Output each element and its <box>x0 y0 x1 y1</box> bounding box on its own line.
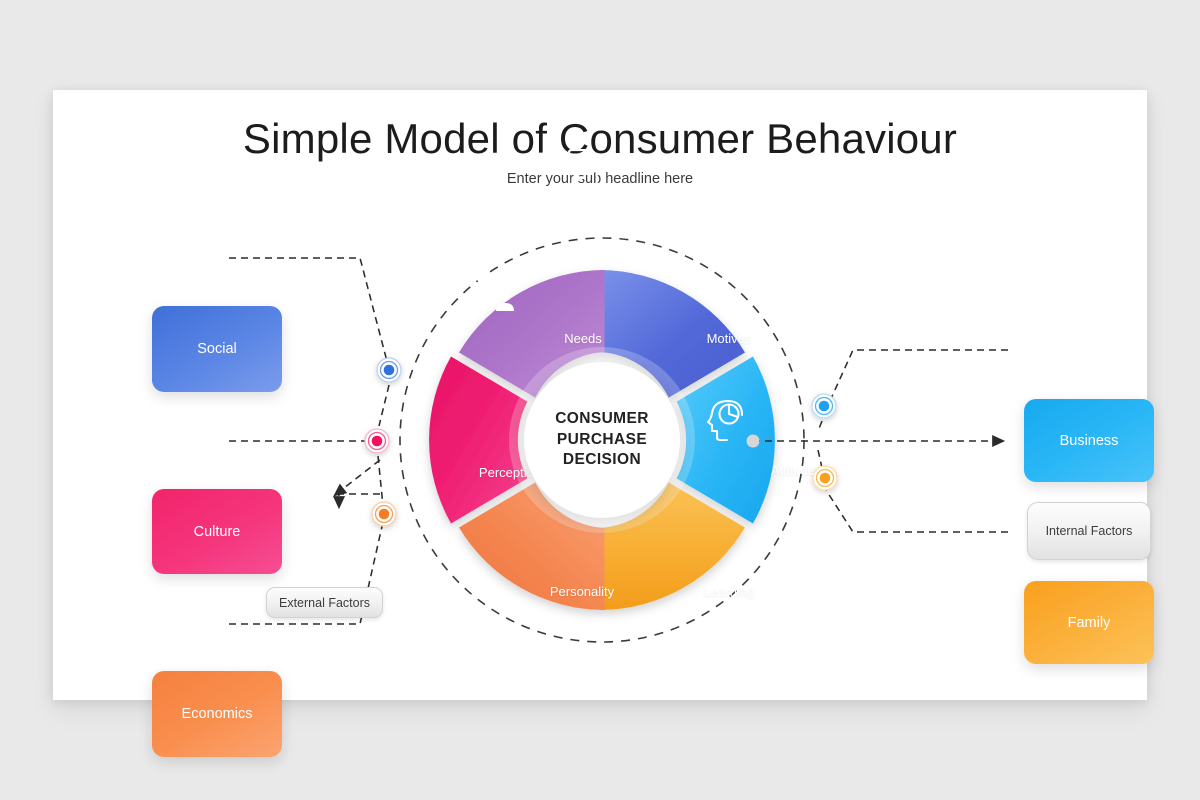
wheel-rim-dot <box>747 435 760 448</box>
hub-line-1: CONSUMER <box>555 410 649 429</box>
wheel-label-attitude: Attitude <box>771 463 815 478</box>
node-business-right[interactable] <box>812 394 836 418</box>
node-family-right[interactable] <box>813 466 837 490</box>
connector-business <box>825 350 1008 412</box>
node-economics-left[interactable] <box>372 502 396 526</box>
card-label-social: Social <box>197 341 237 357</box>
hub-line-3: DECISION <box>563 451 641 470</box>
node-culture-left[interactable] <box>365 429 389 453</box>
card-label-economics: Economics <box>182 706 253 722</box>
card-label-family: Family <box>1068 615 1111 631</box>
connector-right-spine <box>818 421 822 431</box>
document-pen-icon <box>569 150 603 185</box>
pill-label-internal: Internal Factors <box>1046 524 1133 538</box>
card-culture[interactable]: Culture <box>152 489 282 574</box>
card-economics[interactable]: Economics <box>152 671 282 757</box>
node-social-left[interactable] <box>377 358 401 382</box>
card-family[interactable]: Family <box>1024 581 1154 664</box>
connector-external-factors <box>339 494 380 507</box>
pill-internal-factors[interactable]: Internal Factors <box>1027 502 1151 560</box>
wheel-hub: CONSUMER PURCHASE DECISION <box>524 362 680 518</box>
wheel-label-needs: Needs <box>564 331 602 346</box>
card-social[interactable]: Social <box>152 306 282 392</box>
connector-family <box>826 490 1008 532</box>
pill-external-factors[interactable]: External Factors <box>266 587 383 618</box>
slide-canvas: Simple Model of Consumer Behaviour Enter… <box>53 90 1147 700</box>
card-business[interactable]: Business <box>1024 399 1154 482</box>
screenshot-root: Simple Model of Consumer Behaviour Enter… <box>0 0 1200 800</box>
hub-line-2: PURCHASE <box>557 431 647 450</box>
pill-label-external: External Factors <box>279 596 370 610</box>
connector-left-spine-2 <box>378 456 383 506</box>
two-people-exchange-icon <box>473 273 514 311</box>
card-label-culture: Culture <box>194 524 241 540</box>
org-chart-icon <box>710 153 747 186</box>
wheel-label-personality: Personality <box>550 584 614 599</box>
wheel-label-motives: Motives <box>707 331 752 346</box>
raised-fist-icon <box>775 274 809 308</box>
connector-right-spine-2 <box>818 450 822 468</box>
connector-external-arrow <box>335 460 380 495</box>
wheel-label-learning: Learning <box>704 584 755 599</box>
connector-left-spine <box>379 385 389 426</box>
card-label-business: Business <box>1060 433 1119 449</box>
